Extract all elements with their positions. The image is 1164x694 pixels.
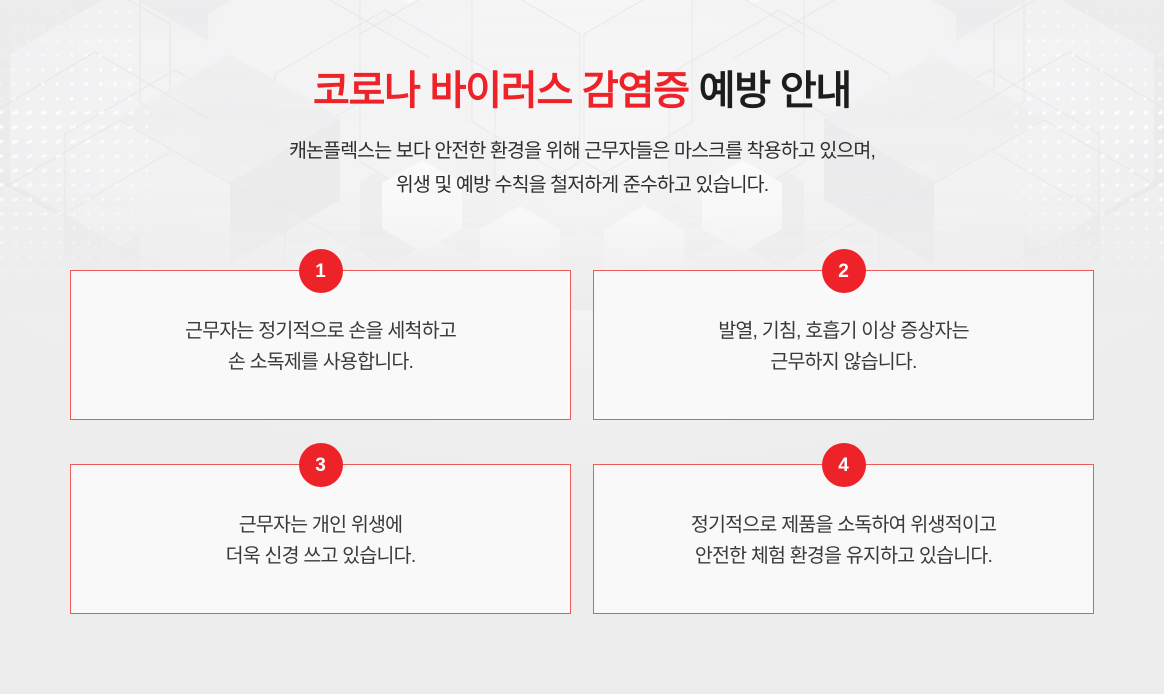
page-subtitle-line2: 위생 및 예방 수칙을 철저하게 준수하고 있습니다.: [396, 174, 768, 196]
card-text-2: 발열, 기침, 호흡기 이상 증상자는 근무하지 않습니다.: [704, 316, 983, 378]
prevention-notice-page: 코로나 바이러스 감염증 예방 안내 캐논플렉스는 보다 안전한 환경을 위해 …: [0, 0, 1164, 694]
page-header: 코로나 바이러스 감염증 예방 안내 캐논플렉스는 보다 안전한 환경을 위해 …: [0, 0, 1164, 202]
page-subtitle-line1: 캐논플렉스는 보다 안전한 환경을 위해 근무자들은 마스크를 착용하고 있으며…: [289, 140, 875, 162]
card-number-badge-2: 2: [822, 249, 866, 293]
page-subtitle: 캐논플렉스는 보다 안전한 환경을 위해 근무자들은 마스크를 착용하고 있으며…: [0, 134, 1164, 202]
guideline-card-grid: 1 근무자는 정기적으로 손을 세척하고 손 소독제를 사용합니다. 2 발열,…: [70, 270, 1094, 614]
guideline-card-3: 3 근무자는 개인 위생에 더욱 신경 쓰고 있습니다.: [70, 464, 571, 614]
card-number-badge-1: 1: [299, 249, 343, 293]
card-text-3: 근무자는 개인 위생에 더욱 신경 쓰고 있습니다.: [212, 510, 430, 572]
card-text-1: 근무자는 정기적으로 손을 세척하고 손 소독제를 사용합니다.: [171, 316, 470, 378]
guideline-card-1: 1 근무자는 정기적으로 손을 세척하고 손 소독제를 사용합니다.: [70, 270, 571, 420]
page-title-rest: 예방 안내: [689, 69, 851, 113]
card-number-badge-4: 4: [822, 443, 866, 487]
card-text-4: 정기적으로 제품을 소독하여 위생적이고 안전한 체험 환경을 유지하고 있습니…: [677, 510, 1010, 572]
guideline-card-4: 4 정기적으로 제품을 소독하여 위생적이고 안전한 체험 환경을 유지하고 있…: [593, 464, 1094, 614]
guideline-card-2: 2 발열, 기침, 호흡기 이상 증상자는 근무하지 않습니다.: [593, 270, 1094, 420]
page-title-accent: 코로나 바이러스 감염증: [313, 69, 689, 113]
page-title: 코로나 바이러스 감염증 예방 안내: [0, 68, 1164, 114]
card-number-badge-3: 3: [299, 443, 343, 487]
